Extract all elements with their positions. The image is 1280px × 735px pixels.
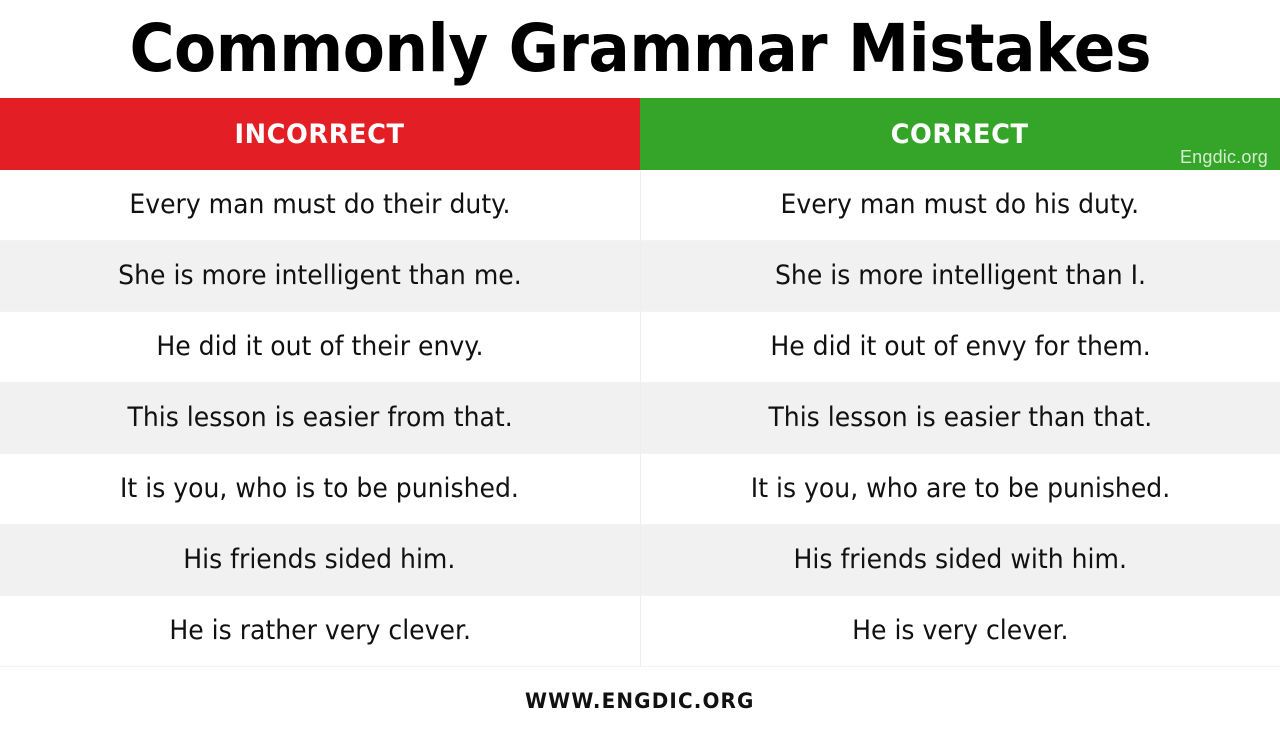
grammar-mistakes-page: Commonly Grammar Mistakes INCORRECT CORR… xyxy=(0,0,1280,720)
correct-sentence: Every man must do his duty. xyxy=(781,190,1140,220)
correct-sentence: It is you, who are to be punished. xyxy=(751,474,1170,504)
table-head: INCORRECT CORRECT Engdic.org xyxy=(0,98,1280,170)
incorrect-sentence: He is rather very clever. xyxy=(169,616,471,646)
incorrect-sentence: She is more intelligent than me. xyxy=(118,261,522,291)
correct-sentence: His friends sided with him. xyxy=(794,545,1127,575)
column-header-incorrect: INCORRECT xyxy=(0,98,640,170)
table-body: Every man must do their duty. Every man … xyxy=(0,170,1280,667)
correct-sentence: He is very clever. xyxy=(852,616,1068,646)
table-row: His friends sided him. His friends sided… xyxy=(0,525,1280,596)
column-header-correct: CORRECT Engdic.org xyxy=(640,98,1280,170)
cell-correct: Every man must do his duty. xyxy=(640,170,1280,241)
page-title-container: Commonly Grammar Mistakes xyxy=(0,0,1280,98)
grammar-comparison-table: INCORRECT CORRECT Engdic.org Every man m… xyxy=(0,98,1280,667)
cell-incorrect: He is rather very clever. xyxy=(0,596,640,667)
cell-correct: He is very clever. xyxy=(640,596,1280,667)
incorrect-header-label: INCORRECT xyxy=(235,119,405,150)
incorrect-sentence: It is you, who is to be punished. xyxy=(120,474,519,504)
table-row: He did it out of their envy. He did it o… xyxy=(0,312,1280,383)
incorrect-sentence: This lesson is easier from that. xyxy=(127,403,512,433)
incorrect-sentence: Every man must do their duty. xyxy=(129,190,510,220)
cell-incorrect: Every man must do their duty. xyxy=(0,170,640,241)
correct-sentence: She is more intelligent than I. xyxy=(775,261,1146,291)
cell-correct: It is you, who are to be punished. xyxy=(640,454,1280,525)
correct-sentence: This lesson is easier than that. xyxy=(768,403,1152,433)
incorrect-sentence: He did it out of their envy. xyxy=(156,332,483,362)
correct-header-label: CORRECT xyxy=(891,119,1029,150)
table-row: He is rather very clever. He is very cle… xyxy=(0,596,1280,667)
table-header-row: INCORRECT CORRECT Engdic.org xyxy=(0,98,1280,170)
page-title: Commonly Grammar Mistakes xyxy=(129,16,1151,82)
cell-correct: His friends sided with him. xyxy=(640,525,1280,596)
cell-incorrect: His friends sided him. xyxy=(0,525,640,596)
footer-website-label: WWW.ENGDIC.ORG xyxy=(525,689,755,713)
table-row: It is you, who is to be punished. It is … xyxy=(0,454,1280,525)
correct-header-cell: CORRECT Engdic.org xyxy=(640,98,1280,170)
table-row: Every man must do their duty. Every man … xyxy=(0,170,1280,241)
page-footer: WWW.ENGDIC.ORG xyxy=(0,667,1280,735)
cell-incorrect: She is more intelligent than me. xyxy=(0,241,640,312)
incorrect-header-cell: INCORRECT xyxy=(0,98,640,170)
cell-correct: She is more intelligent than I. xyxy=(640,241,1280,312)
cell-correct: This lesson is easier than that. xyxy=(640,383,1280,454)
table-row: This lesson is easier from that. This le… xyxy=(0,383,1280,454)
site-watermark: Engdic.org xyxy=(1180,148,1268,166)
cell-incorrect: This lesson is easier from that. xyxy=(0,383,640,454)
table-row: She is more intelligent than me. She is … xyxy=(0,241,1280,312)
cell-incorrect: He did it out of their envy. xyxy=(0,312,640,383)
cell-correct: He did it out of envy for them. xyxy=(640,312,1280,383)
incorrect-sentence: His friends sided him. xyxy=(184,545,456,575)
cell-incorrect: It is you, who is to be punished. xyxy=(0,454,640,525)
correct-sentence: He did it out of envy for them. xyxy=(770,332,1150,362)
